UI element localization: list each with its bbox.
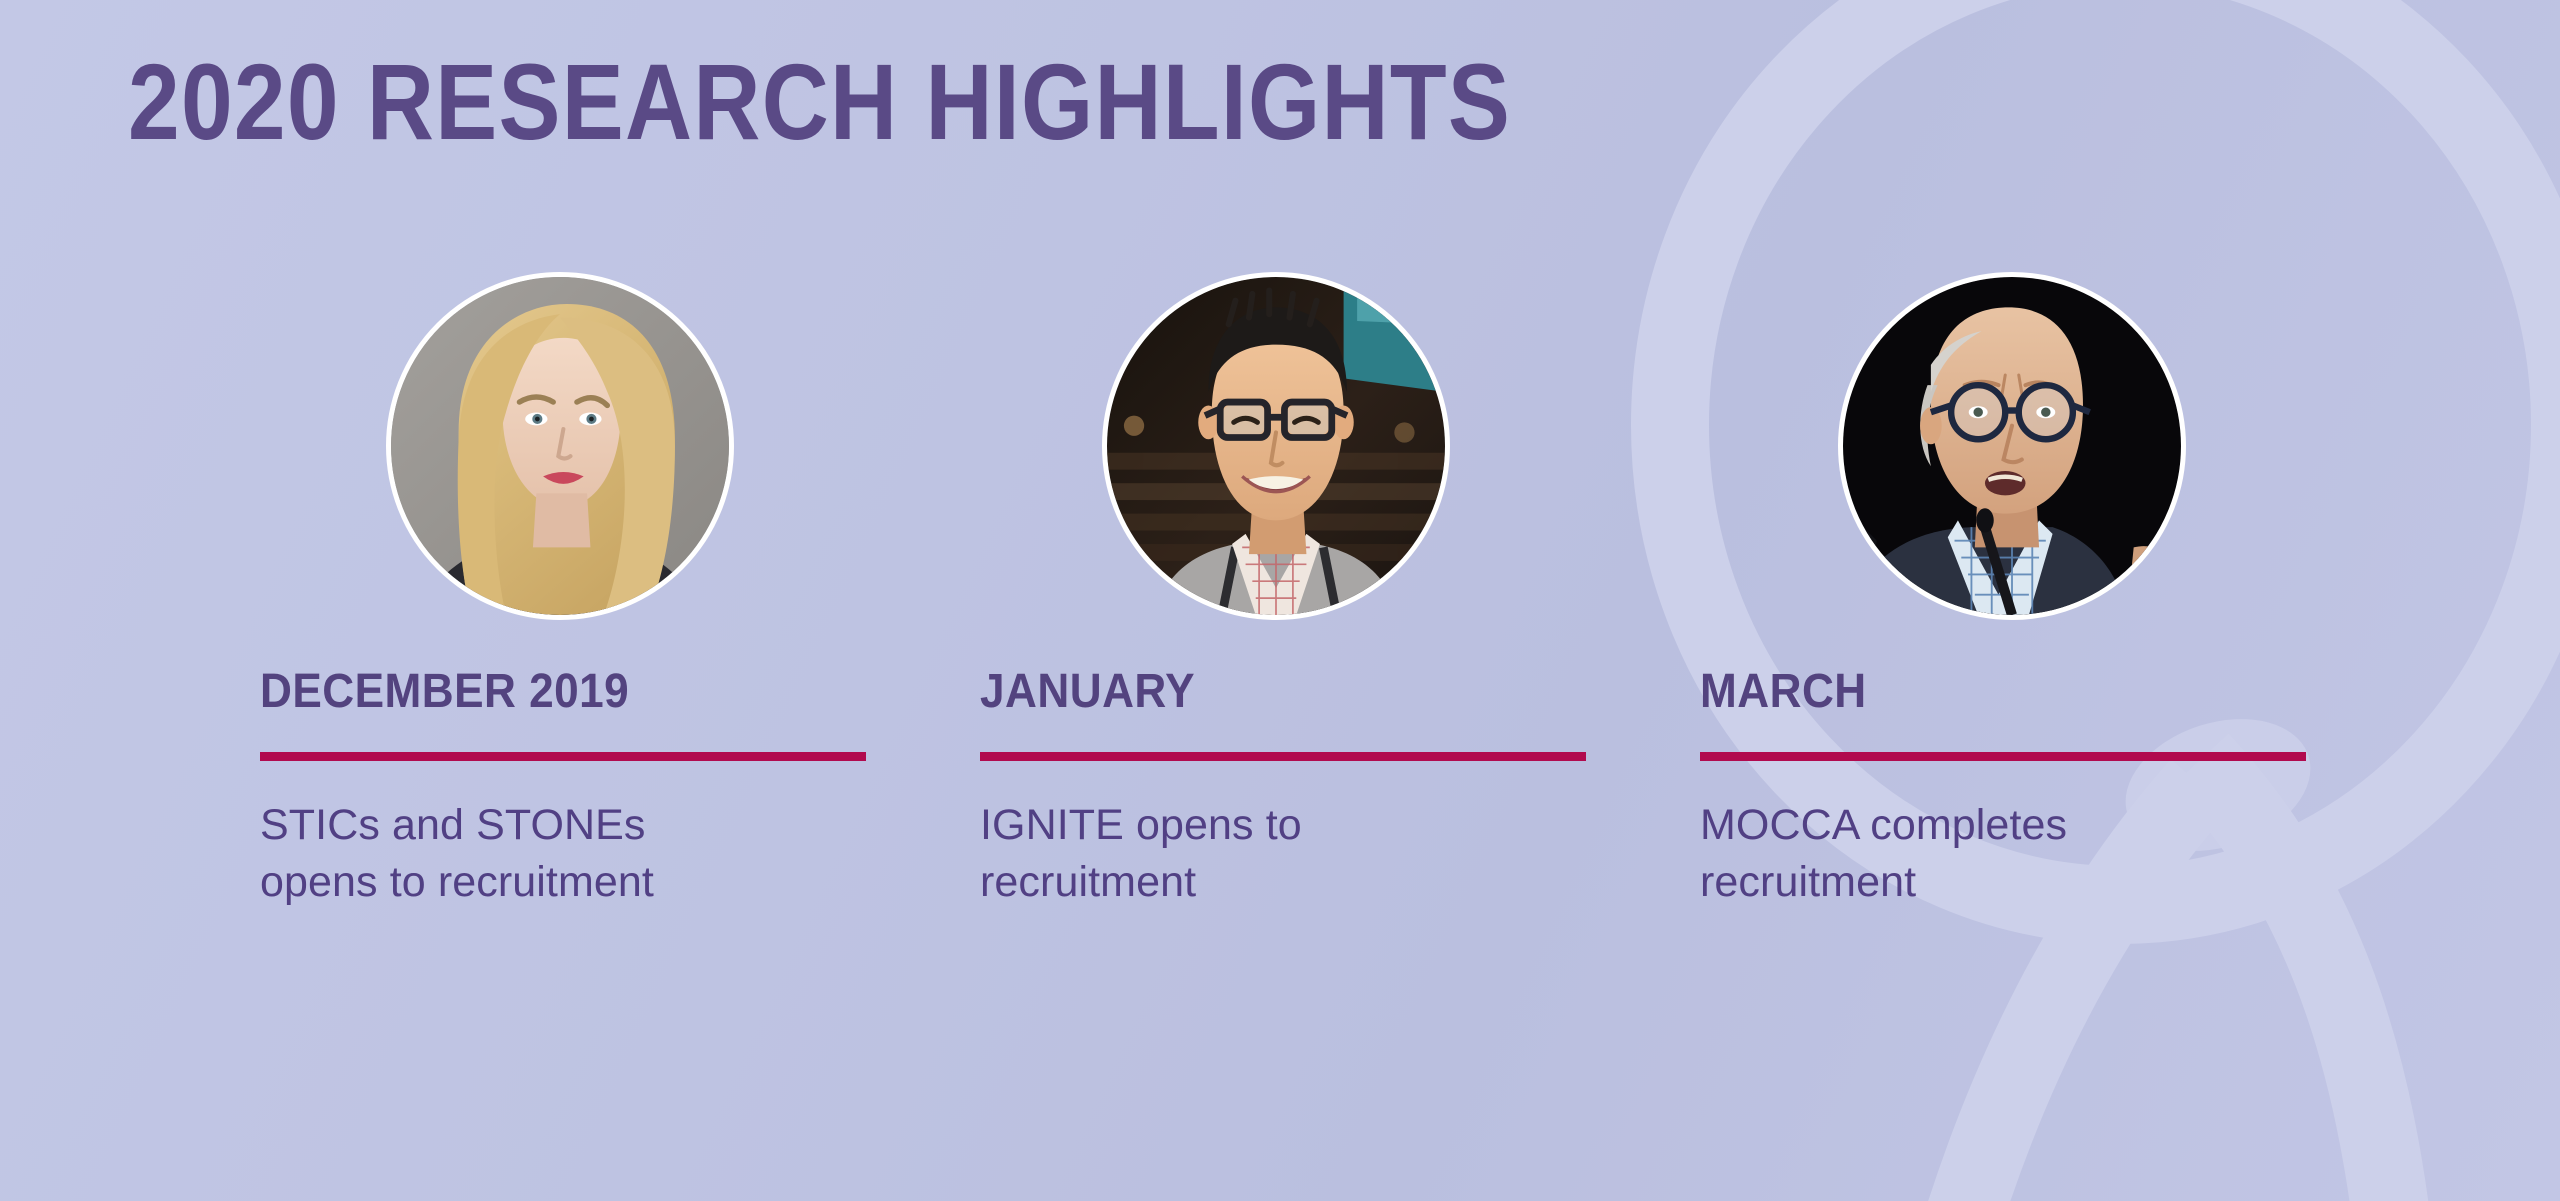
description-line: MOCCA completes [1700,797,2300,854]
highlight-description: STICs and STONEs opens to recruitment [260,797,860,911]
month-heading: DECEMBER 2019 [260,668,818,716]
description-line: recruitment [1700,854,2300,911]
divider-rule [260,752,866,761]
description-line: opens to recruitment [260,854,860,911]
highlight-description: MOCCA completes recruitment [1700,797,2300,911]
avatar [386,272,734,620]
portrait-photo-icon [1107,277,1445,615]
highlight-description: IGNITE opens to recruitment [980,797,1580,911]
description-line: IGNITE opens to [980,797,1580,854]
description-line: recruitment [980,854,1580,911]
divider-rule [980,752,1586,761]
highlight-column: MARCH MOCCA completes recruitment [1700,260,2306,911]
highlight-column: DECEMBER 2019 STICs and STONEs opens to … [260,260,866,911]
portrait-container [260,260,866,630]
page-title: 2020 RESEARCH HIGHLIGHTS [128,48,1511,156]
description-line: STICs and STONEs [260,797,860,854]
month-heading: JANUARY [980,668,1538,716]
portrait-container [1700,260,2306,630]
portrait-photo-icon [391,277,729,615]
highlights-banner: 2020 RESEARCH HIGHLIGHTS [0,0,2560,1201]
avatar [1102,272,1450,620]
portrait-photo-icon [1843,277,2181,615]
month-heading: MARCH [1700,668,2258,716]
highlight-column: JANUARY IGNITE opens to recruitment [980,260,1586,911]
divider-rule [1700,752,2306,761]
avatar [1838,272,2186,620]
portrait-container [980,260,1586,630]
